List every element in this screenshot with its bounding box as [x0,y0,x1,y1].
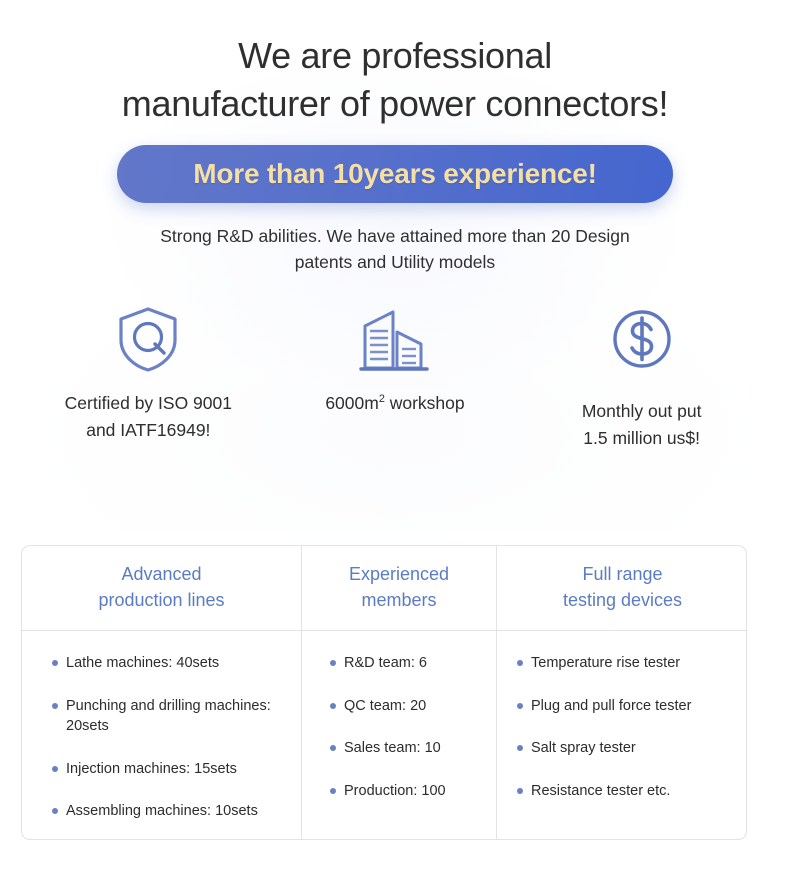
page-title: We are professional manufacturer of powe… [35,32,755,127]
list-item: Injection machines: 15sets [44,759,301,780]
list-item: Salt spray tester [509,738,747,759]
list-item: Plug and pull force tester [509,696,747,717]
experience-badge[interactable]: More than 10years experience! [117,145,673,203]
column-testing: Temperature rise tester Plug and pull fo… [497,631,747,839]
page-title-line-1: We are professional [35,32,755,80]
feature-certification: Certified by ISO 9001 and IATF16949! [25,302,272,452]
column-header-production-line-1: Advanced [98,562,224,588]
feature-certification-line-1: Certified by ISO 9001 [65,390,232,417]
column-header-testing-line-2: testing devices [563,588,682,614]
workshop-area-suffix: workshop [385,393,465,413]
list-item: Resistance tester etc. [509,781,747,802]
feature-row: Certified by ISO 9001 and IATF16949! [25,302,765,452]
subtitle-line-2: patents and Utility models [95,249,695,275]
feature-output: Monthly out put 1.5 million us$! [518,302,765,452]
capability-table-header-row: Advanced production lines Experienced me… [22,546,746,631]
list-item: Assembling machines: 10sets [44,801,301,822]
list-item: Punching and drilling machines: 20sets [44,696,301,737]
factory-building-icon [357,302,433,376]
column-header-testing: Full range testing devices [497,546,747,630]
workshop-area-value: 6000m [325,393,379,413]
list-item: Temperature rise tester [509,653,747,674]
feature-workshop-line-1: 6000m2 workshop [325,390,464,417]
capability-table-body: Lathe machines: 40sets Punching and dril… [22,631,746,839]
column-header-members-line-2: members [349,588,449,614]
column-header-production: Advanced production lines [22,546,302,630]
members-list: R&D team: 6 QC team: 20 Sales team: 10 P… [322,653,496,801]
feature-output-caption: Monthly out put 1.5 million us$! [582,398,702,452]
list-item: R&D team: 6 [322,653,496,674]
list-item: QC team: 20 [322,696,496,717]
experience-badge-label: More than 10years experience! [193,158,597,190]
testing-list: Temperature rise tester Plug and pull fo… [509,653,747,801]
subtitle-line-1: Strong R&D abilities. We have attained m… [95,223,695,249]
list-item: Production: 100 [322,781,496,802]
feature-workshop: 6000m2 workshop [272,302,519,452]
feature-output-line-2: 1.5 million us$! [582,425,702,452]
dollar-circle-icon [609,302,675,376]
list-item: Sales team: 10 [322,738,496,759]
capability-table: Advanced production lines Experienced me… [21,545,747,840]
feature-workshop-caption: 6000m2 workshop [325,390,464,417]
feature-certification-caption: Certified by ISO 9001 and IATF16949! [65,390,232,444]
column-header-testing-line-1: Full range [563,562,682,588]
subtitle: Strong R&D abilities. We have attained m… [95,223,695,276]
column-header-production-line-2: production lines [98,588,224,614]
feature-output-line-1: Monthly out put [582,398,702,425]
promo-page: We are professional manufacturer of powe… [0,32,790,877]
column-header-members-line-1: Experienced [349,562,449,588]
column-header-members: Experienced members [302,546,497,630]
column-production: Lathe machines: 40sets Punching and dril… [22,631,302,839]
page-title-line-2: manufacturer of power connectors! [35,80,755,128]
column-members: R&D team: 6 QC team: 20 Sales team: 10 P… [302,631,497,839]
experience-badge-wrapper: More than 10years experience! [0,145,790,203]
list-item: Lathe machines: 40sets [44,653,301,674]
production-list: Lathe machines: 40sets Punching and dril… [44,653,301,822]
feature-certification-line-2: and IATF16949! [65,417,232,444]
shield-quality-icon [115,302,181,376]
